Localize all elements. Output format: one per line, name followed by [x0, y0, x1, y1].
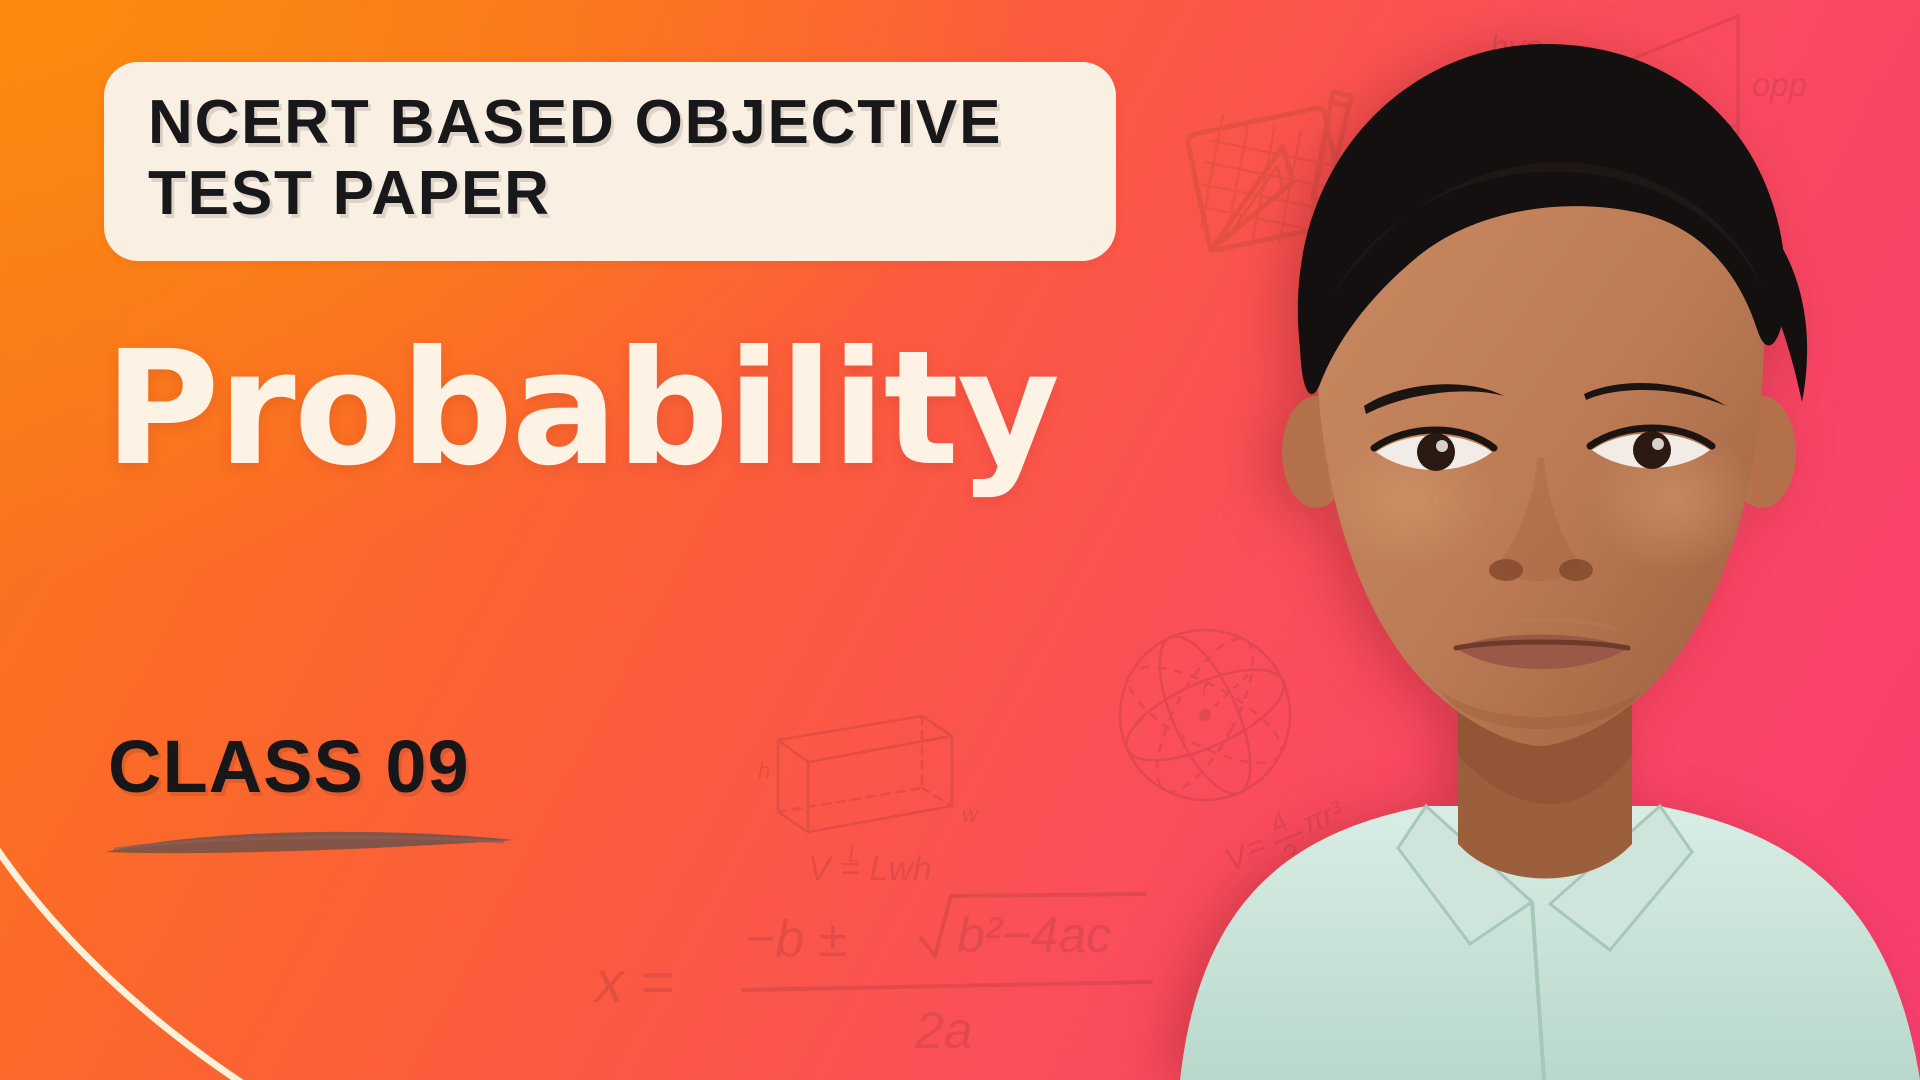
class-underline-stroke — [100, 822, 520, 862]
banner: NCERT BASED OBJECTIVE TEST PAPER — [104, 62, 1116, 261]
doodle-label-box-w: w — [962, 802, 980, 827]
doodle-quad-radicand: b²−4ac — [957, 907, 1111, 963]
thumbnail-canvas: hyp opp adj θ ) = opp hyp — [0, 0, 1920, 1080]
doodle-quad-denominator: 2a — [914, 1002, 973, 1060]
class-badge-label: CLASS 09 — [108, 730, 528, 804]
class-badge: CLASS 09 — [108, 730, 528, 804]
doodle-box-formula: V = Lwh — [808, 850, 932, 888]
doodle-label-box-l: L — [848, 842, 860, 867]
page-title: Probability — [104, 330, 1058, 488]
banner-line-1: NCERT BASED OBJECTIVE — [148, 88, 1072, 159]
quadratic-formula-doodle: x = −b ± b²−4ac 2a — [585, 890, 1185, 1070]
prism-volume-doodle: h L w V = Lwh — [740, 700, 1010, 890]
instructor-portrait — [1140, 0, 1920, 1080]
doodle-label-box-h: h — [758, 758, 770, 783]
doodle-quad-lhs: x = — [592, 950, 674, 1015]
doodle-quad-numerator: −b ± — [745, 910, 847, 968]
banner-line-2: TEST PAPER — [148, 159, 1072, 230]
